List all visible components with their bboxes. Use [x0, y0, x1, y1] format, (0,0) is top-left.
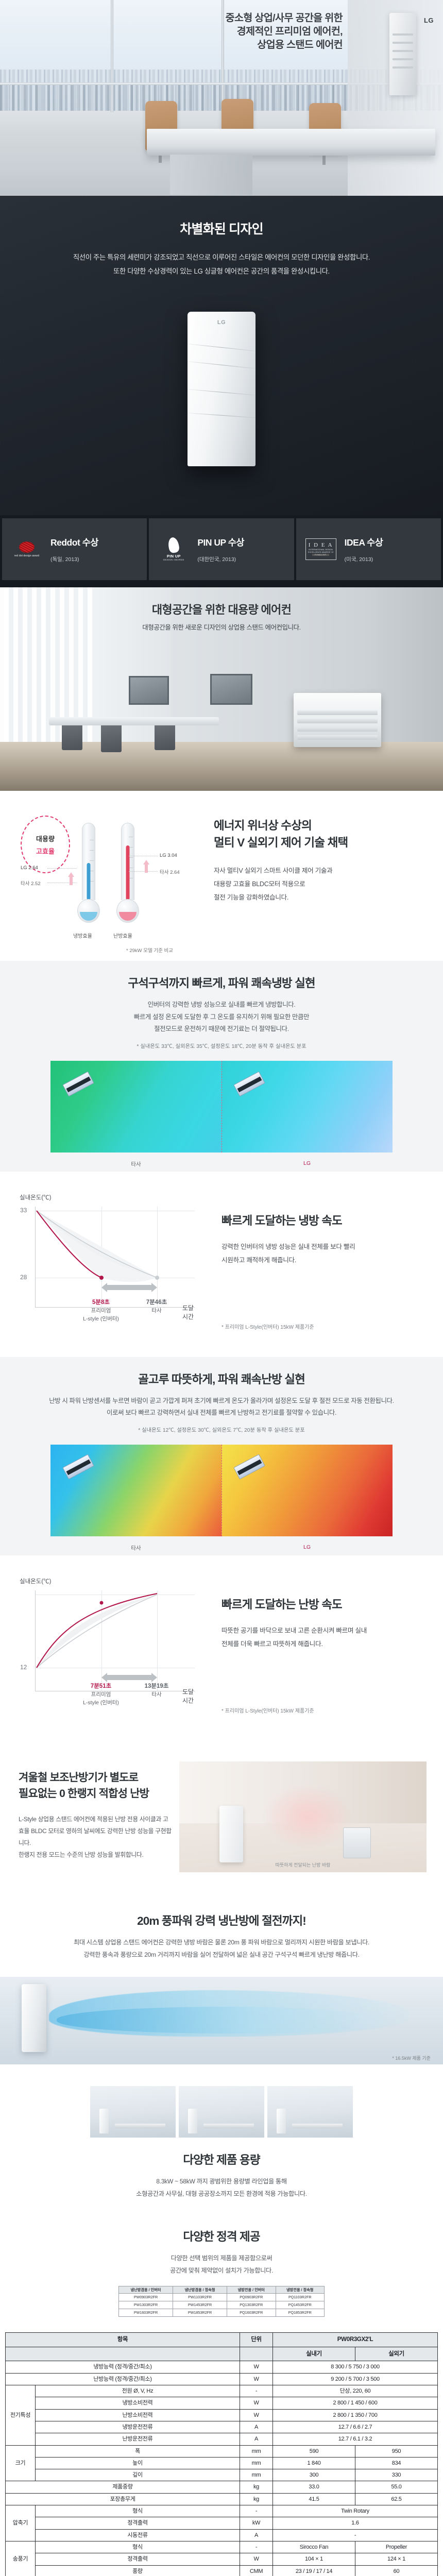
- model-lineup-table: 냉난방겸용 / 인버터냉난방겸용 / 정속형냉방전용 / 인버터냉방전용 / 정…: [118, 2286, 325, 2317]
- lineup-photo: [267, 2086, 353, 2138]
- energy-body-line-2: 대용량 고효율 BLDC모터 적용으로: [214, 878, 430, 891]
- spec-subheader-indoor: 실내기: [273, 2347, 355, 2361]
- heating-speed-chart-section: 실내온도(℃) 12 7분51초 프리미엄 L-style (인버터): [0, 1555, 443, 1741]
- thermal-image-lg: [221, 1445, 393, 1536]
- ac-unit-illustration: [233, 1454, 265, 1479]
- fast-cooling-fine-print: * 실내온도 33℃, 실외온도 35℃, 설정온도 18℃, 20분 동작 후…: [0, 1042, 443, 1049]
- airflow-stream-inner: [57, 2007, 386, 2033]
- heating-chart-ytick-12: 12: [20, 1664, 27, 1671]
- cold-region-title-1: 겨울철 보조난방기가 별도로: [19, 1772, 138, 1784]
- cooling-chart-xlabel: 도달시간: [182, 1303, 195, 1321]
- energy-title-line-2: 멀티 V 실외기 제어 기술 채택: [214, 835, 430, 852]
- lg-logo: LG: [217, 319, 226, 326]
- spec-row-unit: -: [240, 2541, 273, 2553]
- heating-chart-plot: 12: [35, 1590, 195, 1691]
- award-subtitle: (독일, 2013): [50, 555, 98, 563]
- air-conditioner-unit: [389, 13, 416, 95]
- spec-row-unit: kW: [240, 2517, 273, 2529]
- design-desc-line-1: 직선이 주는 특유의 세련미가 강조되었고 직선으로 이루어진 스타일은 에어컨…: [0, 251, 443, 265]
- cooling-lg-value: LG 2.64: [21, 865, 38, 871]
- design-section: 차별화된 디자인 직선이 주는 특유의 세련미가 강조되었고 직선으로 이루어진…: [0, 196, 443, 515]
- capacity-subtitle: 대형공간을 위한 새로운 디자인의 상업용 스탠드 에어컨입니다.: [0, 622, 443, 632]
- spec-row: 냉방능력 (정격/중간/최소)W8 300 / 5 750 / 3 000: [6, 2361, 438, 2373]
- energy-text-block: 에너지 위너상 수상의 멀티 V 실외기 제어 기술 채택 자사 멀티V 실외기…: [214, 818, 430, 905]
- spec-row: 제품중량kg33.055.0: [6, 2481, 438, 2493]
- fast-heating-desc-1: 난방 시 파워 난방센서를 누르면 바람이 곧고 가깝게 퍼져 초기에 빠르게 …: [49, 1397, 394, 1404]
- spec-row-item: 냉방운전전류: [36, 2421, 240, 2433]
- spec-row-item: 시동전류: [36, 2529, 240, 2541]
- thermal-image-other: [50, 1061, 221, 1153]
- spec-row-unit: mm: [240, 2457, 273, 2469]
- spec-row-value: 1.6: [273, 2517, 438, 2529]
- spec-row: 난방능력 (정격/중간/최소)W9 200 / 5 700 / 3 500: [6, 2373, 438, 2385]
- award-subtitle: (대한민국, 2013): [197, 555, 244, 563]
- spec-row-unit: A: [240, 2529, 273, 2541]
- spec-header-model: PW0R3GX2'L: [273, 2332, 438, 2347]
- spec-row-group: 압축기: [6, 2505, 36, 2541]
- spec-row-item: 형식: [36, 2541, 240, 2553]
- model-lineup-cell: PW1453R2FR: [173, 2301, 227, 2309]
- energy-body-line-3: 절전 기능을 강화하였습니다.: [214, 891, 430, 905]
- model-lineup-row: PW0903R2FRPW1103R2FRPQ0903R2FRPQ1103R2FR: [119, 2294, 325, 2301]
- spec-row-value: 12.7 / 6.6 / 2.7: [273, 2421, 438, 2433]
- spec-row-unit: -: [240, 2385, 273, 2397]
- awards-section: red dot design award Reddot 수상 (독일, 2013…: [0, 515, 443, 587]
- pinup-logo-caption: PIN UP: [167, 554, 181, 558]
- conference-table-leg: [170, 155, 252, 195]
- model-lineup-row: PW1303R2FRPW1453R2FRPQ1303R2FRPQ1453R2FR: [119, 2301, 325, 2309]
- design-description: 직선이 주는 특유의 세련미가 강조되었고 직선으로 이루어진 스타일은 에어컨…: [0, 251, 443, 279]
- spec-row-unit: W: [240, 2373, 273, 2385]
- cold-region-photo-caption: 따뜻하게 전달되는 난방 바람: [179, 1861, 427, 1868]
- pinup-logo-icon: PIN UP DESIGN AWARDS: [156, 535, 191, 564]
- spec-row-unit: kg: [240, 2481, 273, 2493]
- spec-row-value-indoor: 33.0: [273, 2481, 355, 2493]
- model-lineup-cell: PW1853R2FR: [173, 2309, 227, 2316]
- product-lineup-section: 다양한 제품 용량 8.3kW ~ 58kW 까지 광범위한 용량별 라인업을 …: [0, 2071, 443, 2214]
- spec-row-group: 송풍기: [6, 2541, 36, 2576]
- badge-line-2: 고효율: [36, 846, 55, 856]
- spec-row: 전기특성전원 Ø, V, Hz-단상, 220, 60: [6, 2385, 438, 2397]
- wall-frame: [129, 676, 169, 705]
- design-desc-line-2: 또한 다양한 수상경력이 있는 LG 싱글형 에어컨은 공간의 품격을 완성시킵…: [0, 265, 443, 279]
- model-lineup-body: PW0903R2FRPW1103R2FRPQ0903R2FRPQ1103R2FR…: [119, 2294, 325, 2316]
- award-title: PIN UP 수상: [197, 536, 244, 549]
- cooling-efficiency-label: 냉방효율: [73, 931, 92, 939]
- spec-row-unit: W: [240, 2397, 273, 2409]
- airflow-note: * 16.5kW 제품 기준: [392, 2055, 431, 2061]
- spec-row-value-outdoor: 62.5: [355, 2493, 438, 2505]
- fast-cooling-desc-2: 빠르게 설정 온도에 도달한 후 그 온도를 유지하기 위해 필요한 만큼만: [134, 1013, 309, 1021]
- spec-row-value-indoor: 300: [273, 2469, 355, 2481]
- model-lineup-col-header: 냉방전용 / 인버터: [227, 2286, 276, 2294]
- heating-speed-body-2: 전체를 더욱 빠르고 따뜻하게 해줍니다.: [221, 1640, 323, 1648]
- thermal-image-other: [50, 1445, 221, 1536]
- cooling-other-value: 타사 2.52: [21, 879, 41, 887]
- cooling-speed-text: 빠르게 도달하는 냉방 속도 강력한 인버터의 냉방 성능은 실내 전체를 보다…: [221, 1212, 428, 1267]
- spec-row-value-indoor: 590: [273, 2445, 355, 2457]
- lineup-title: 다양한 제품 용량: [0, 2151, 443, 2167]
- idea-logo-caption: INTERNATIONAL DESIGN EXCELLENCE AWARDS '…: [306, 549, 336, 554]
- award-card-idea: I D E A INTERNATIONAL DESIGN EXCELLENCE …: [296, 518, 441, 580]
- spec-row-value-outdoor: 55.0: [355, 2481, 438, 2493]
- spec-row-value: 8 300 / 5 750 / 3 000: [273, 2361, 438, 2373]
- heating-speed-chart: 실내온도(℃) 12 7분51초 프리미엄 L-style (인버터): [20, 1577, 195, 1716]
- spec-subheader-blank: [6, 2347, 240, 2361]
- award-subtitle: (미국, 2013): [345, 555, 383, 563]
- spec-row: 송풍기형식-Sirocco FanPropeller: [6, 2541, 438, 2553]
- model-lineup-header-row: 냉난방겸용 / 인버터냉난방겸용 / 정속형냉방전용 / 인버터냉방전용 / 정…: [119, 2286, 325, 2294]
- spec-subheader-outdoor: 실외기: [355, 2347, 438, 2361]
- design-title: 차별화된 디자인: [0, 196, 443, 238]
- spec-row: 깊이mm300330: [6, 2469, 438, 2481]
- spec-row-unit: W: [240, 2409, 273, 2421]
- spec-row: 정격출력kW1.6: [6, 2517, 438, 2529]
- thermal-legend-lg: LG: [221, 1160, 393, 1168]
- heating-chart-lg-label: 7분51초 프리미엄 L-style (인버터): [83, 1682, 119, 1707]
- model-lineup-cell: PW1603R2FR: [119, 2309, 173, 2316]
- cooling-thermal-comparison: 타사 LG: [0, 1061, 443, 1172]
- spec-row-value-outdoor: 60: [355, 2565, 438, 2576]
- heating-chart-ylabel: 실내온도(℃): [20, 1577, 195, 1585]
- model-lineup-row: PW1603R2FRPW1853R2FRPQ1603R2FRPQ1853R2FR: [119, 2309, 325, 2316]
- thermal-divider: [221, 1061, 222, 1153]
- spec-row-value: -: [273, 2529, 438, 2541]
- spec-row: 난방운전전류A12.7 / 6.1 / 3.2: [6, 2433, 438, 2445]
- heating-speed-body-1: 따뜻한 공기를 바닥으로 보내 고른 순환시켜 빠르며 실내: [221, 1627, 367, 1634]
- idea-logo-subcaption: FINALIST: [312, 554, 329, 556]
- cooling-speed-chart-section: 실내온도(℃) 33 28 5분8초: [0, 1172, 443, 1357]
- spec-intro-title: 다양한 정격 제공: [0, 2228, 443, 2244]
- heating-time-gap-arrow: [107, 1675, 152, 1680]
- spec-row-item: 냉방능력 (정격/중간/최소): [6, 2361, 240, 2373]
- spec-row-item: 난방운전전류: [36, 2433, 240, 2445]
- spec-row-value-outdoor: 124 × 1: [355, 2553, 438, 2565]
- spec-row: 크기폭mm590950: [6, 2445, 438, 2457]
- spec-row-item: 형식: [36, 2505, 240, 2517]
- window-mullion-vertical: [111, 0, 113, 112]
- thermal-legend-other: 타사: [50, 1544, 221, 1552]
- spec-row-unit: mm: [240, 2469, 273, 2481]
- heating-efficiency-label: 난방효율: [113, 931, 132, 939]
- spec-header-item: 항목: [6, 2332, 240, 2347]
- spec-row-unit: mm: [240, 2445, 273, 2457]
- air-conditioner-unit: [294, 693, 381, 747]
- spec-row-unit: W: [240, 2553, 273, 2565]
- heating-lg-value: LG 3.04: [160, 853, 177, 858]
- dining-chair: [101, 722, 122, 752]
- long-distance-airflow-section: 20m 풍파워 강력 냉난방에 절전까지! 최대 시스템 상업용 스탠드 에어컨…: [0, 1901, 443, 2071]
- cooling-speed-body-1: 강력한 인버터의 냉방 성능은 실내 전체를 보다 빨리: [221, 1243, 355, 1250]
- spec-row-value: 2 800 / 1 450 / 600: [273, 2397, 438, 2409]
- fast-cooling-title: 구석구석까지 빠르게, 파워 쾌속냉방 실현: [0, 974, 443, 991]
- cooling-time-gap-arrow: [107, 1285, 152, 1290]
- spec-row-value: 단상, 220, 60: [273, 2385, 438, 2397]
- fast-heating-title: 골고루 따뜻하게, 파워 쾌속난방 실현: [0, 1370, 443, 1387]
- conference-table: [147, 129, 435, 156]
- spec-row-unit: A: [240, 2421, 273, 2433]
- spec-row-value-indoor: 23 / 19 / 17 / 14: [273, 2565, 355, 2576]
- heating-chart-xlabel: 도달시간: [182, 1687, 195, 1705]
- spec-row: 난방소비전력W2 800 / 1 350 / 700: [6, 2409, 438, 2421]
- spec-row-item: 난방소비전력: [36, 2409, 240, 2421]
- ac-unit-illustration: [233, 1071, 265, 1096]
- airflow-title: 20m 풍파워 강력 냉난방에 절전까지!: [0, 1912, 443, 1928]
- thermal-legend-other: 타사: [50, 1160, 221, 1168]
- spec-row-value-indoor: 1 840: [273, 2457, 355, 2469]
- product-page: LG 중소형 상업/사무 공간을 위한 경제적인 프리미엄 에어컨, 상업용 스…: [0, 0, 443, 2576]
- lineup-desc-1: 8.3kW ~ 58kW 까지 광범위한 용량별 라인업을 통해: [156, 2178, 287, 2185]
- spec-row-value: 9 200 / 5 700 / 3 500: [273, 2373, 438, 2385]
- spec-row: 냉방운전전류A12.7 / 6.6 / 2.7: [6, 2421, 438, 2433]
- cooling-chart-lg-label: 5분8초 프리미엄 L-style (인버터): [83, 1298, 119, 1324]
- spec-row-item: 높이: [36, 2457, 240, 2469]
- thermal-divider: [221, 1445, 222, 1536]
- ac-unit-illustration: [62, 1454, 94, 1479]
- reddot-logo-caption: red dot design award: [14, 554, 39, 557]
- window-mullion-vertical: [221, 0, 224, 112]
- spec-row-group: 크기: [6, 2445, 36, 2481]
- spec-row: 시동전류A-: [6, 2529, 438, 2541]
- cold-region-body-2: 한랭지 전용 모드는 수준의 난방 성능을 발휘합니다.: [19, 1851, 143, 1858]
- idea-logo-icon: I D E A INTERNATIONAL DESIGN EXCELLENCE …: [303, 535, 338, 564]
- fast-heating-fine-print: * 실내온도 12℃, 설정온도 30℃, 실외온도 7℃, 20분 동작 후 …: [0, 1426, 443, 1433]
- fast-heating-desc-2: 이로써 보다 빠르고 강력하면서 실내 전체를 빠르게 난방하고 전기료를 절약…: [107, 1409, 336, 1416]
- spec-row-value-indoor: 104 × 1: [273, 2553, 355, 2565]
- lineup-photo: [179, 2086, 264, 2138]
- thermal-legend-lg: LG: [221, 1544, 393, 1552]
- heating-other-value: 타사 2.64: [160, 868, 180, 875]
- heating-speed-fine-print: * 프리미엄 L-Style(인버터) 15kW 제품기준: [221, 1706, 314, 1714]
- model-lineup-cell: PQ1103R2FR: [276, 2294, 325, 2301]
- spec-row-unit: kg: [240, 2493, 273, 2505]
- spec-row-item: 난방능력 (정격/중간/최소): [6, 2373, 240, 2385]
- airflow-illustration: * 16.5kW 제품 기준: [0, 1977, 443, 2064]
- cold-region-body-1: L-Style 상업용 스탠드 에어컨에 적용된 난방 전용 사이클과 고효율 …: [19, 1816, 172, 1846]
- large-capacity-section: 대형공간을 위한 대용량 에어컨 대형공간을 위한 새로운 디자인의 상업용 스…: [0, 587, 443, 791]
- specification-table: 항목 단위 PW0R3GX2'L 실내기 실외기 냉방능력 (정격/중간/최소)…: [5, 2332, 438, 2576]
- award-title: Reddot 수상: [50, 536, 98, 549]
- fast-cooling-desc-3: 절전모드로 운전하기 때문에 전기료는 더 절약됩니다.: [154, 1025, 289, 1032]
- spec-row-item: 정격출력: [36, 2517, 240, 2529]
- cooling-chart-other-label: 7분46초 타사: [146, 1298, 167, 1315]
- specification-table-wrap: 항목 단위 PW0R3GX2'L 실내기 실외기 냉방능력 (정격/중간/최소)…: [0, 2326, 443, 2576]
- award-card-pinup: PIN UP DESIGN AWARDS PIN UP 수상 (대한민국, 20…: [149, 518, 294, 580]
- cold-region-title-2: 필요없는 0 한랭지 적합성 난방: [19, 1788, 149, 1800]
- spec-row-value-outdoor: Propeller: [355, 2541, 438, 2553]
- model-lineup-cell: PQ1853R2FR: [276, 2309, 325, 2316]
- heating-thermal-comparison: 타사 LG: [0, 1445, 443, 1555]
- badge-line-1: 대용량: [36, 834, 55, 843]
- cooling-chart-ytick-28: 28: [20, 1274, 27, 1281]
- energy-title-line-1: 에너지 위너상 수상의: [214, 818, 430, 835]
- ac-unit-illustration: [62, 1071, 94, 1096]
- cooling-chart-ytick-33: 33: [20, 1207, 27, 1214]
- spec-row-value-indoor: 41.5: [273, 2493, 355, 2505]
- fast-heating-header: 골고루 따뜻하게, 파워 쾌속난방 실현 난방 시 파워 난방센서를 누르면 바…: [0, 1357, 443, 1445]
- spec-row-value: 2 800 / 1 350 / 700: [273, 2409, 438, 2421]
- spec-row: 정격출력W104 × 1124 × 1: [6, 2553, 438, 2565]
- spec-row-item: 풍량: [36, 2565, 240, 2576]
- capacity-title: 대형공간을 위한 대용량 에어컨: [0, 601, 443, 617]
- warm-air-glow: [262, 1783, 354, 1850]
- spec-row-group: 전기특성: [6, 2385, 36, 2445]
- cooling-speed-body-2: 시원하고 쾌적하게 해줍니다.: [221, 1257, 296, 1264]
- wall-frame: [210, 674, 252, 705]
- spec-row-unit: A: [240, 2433, 273, 2445]
- model-lineup-cell: PW1103R2FR: [173, 2294, 227, 2301]
- spec-row-unit: CMM: [240, 2565, 273, 2576]
- lineup-photo: [90, 2086, 176, 2138]
- energy-body-line-1: 자사 멀티V 실외기 스마트 사이클 제어 기술과: [214, 865, 430, 878]
- spec-row-item: 정격출력: [36, 2553, 240, 2565]
- model-lineup-cell: PQ0903R2FR: [227, 2294, 276, 2301]
- model-lineup-col-header: 냉방전용 / 정속형: [276, 2286, 325, 2294]
- auxiliary-heater: [343, 1827, 371, 1858]
- spec-row: 높이mm1 840834: [6, 2457, 438, 2469]
- thermometer-cooling: [77, 823, 100, 923]
- lineup-photo-row: [0, 2086, 443, 2138]
- model-lineup-cell: PQ1603R2FR: [227, 2309, 276, 2316]
- model-lineup-cell: PW0903R2FR: [119, 2294, 173, 2301]
- spec-header-row: 항목 단위 PW0R3GX2'L: [6, 2332, 438, 2347]
- heating-speed-text: 빠르게 도달하는 난방 속도 따뜻한 공기를 바닥으로 보내 고른 순환시켜 빠…: [221, 1596, 428, 1651]
- spec-row-value: 12.7 / 6.1 / 3.2: [273, 2433, 438, 2445]
- model-lineup-cell: PQ1453R2FR: [276, 2301, 325, 2309]
- spec-subheader-row: 실내기 실외기: [6, 2347, 438, 2361]
- model-lineup-cell: PQ1303R2FR: [227, 2301, 276, 2309]
- spec-intro-desc-1: 다양한 선택 범위의 제품을 제공함으로써: [171, 2255, 272, 2262]
- award-card-reddot: red dot design award Reddot 수상 (독일, 2013…: [2, 518, 147, 580]
- cooling-chart-curves: [36, 1207, 195, 1308]
- cooling-speed-fine-print: * 프리미엄 L-Style(인버터) 15kW 제품기준: [221, 1323, 314, 1330]
- model-lineup-col-header: 냉난방겸용 / 인버터: [119, 2286, 173, 2294]
- hero-headline-line-1: 중소형 상업/사무 공간을 위한: [226, 11, 343, 25]
- spec-row-value-outdoor: 330: [355, 2469, 438, 2481]
- spec-row-item: 냉방소비전력: [36, 2397, 240, 2409]
- model-lineup-cell: PW1303R2FR: [119, 2301, 173, 2309]
- heating-chart-other-label: 13분19초 타사: [145, 1682, 169, 1699]
- product-hero-image: LG: [188, 312, 255, 466]
- spec-subheader-blank-unit: [240, 2347, 273, 2361]
- spec-row: 풍량CMM23 / 19 / 17 / 1460: [6, 2565, 438, 2576]
- spec-intro-section: 다양한 정격 제공 다양한 선택 범위의 제품을 제공함으로써 공간에 맞춰 제…: [0, 2213, 443, 2326]
- spec-row-item: 제품중량: [6, 2481, 240, 2493]
- spec-row-value: Twin Rotary: [273, 2505, 438, 2517]
- spec-header-unit: 단위: [240, 2332, 273, 2347]
- spec-row-value-outdoor: 834: [355, 2457, 438, 2469]
- spec-row: 포장총무게kg41.562.5: [6, 2493, 438, 2505]
- cooling-speed-chart: 실내온도(℃) 33 28 5분8초: [20, 1193, 195, 1332]
- lineup-desc-2: 소형공간과 사무실, 대형 공공장소까지 모든 환경에 적용 가능합니다.: [136, 2190, 306, 2197]
- airflow-header: 20m 풍파워 강력 냉난방에 절전까지! 최대 시스템 상업용 스탠드 에어컨…: [0, 1912, 443, 1961]
- thermometer-comparison-graphic: 대용량 고효율: [15, 810, 201, 944]
- cold-region-photo: 따뜻하게 전달되는 난방 바람: [179, 1761, 427, 1872]
- cooling-chart-plot: 33 28: [35, 1207, 195, 1308]
- spec-row: 압축기형식-Twin Rotary: [6, 2505, 438, 2517]
- lg-logo: LG: [424, 16, 434, 24]
- cooling-chart-ylabel: 실내온도(℃): [20, 1193, 195, 1201]
- hero-section: LG 중소형 상업/사무 공간을 위한 경제적인 프리미엄 에어컨, 상업용 스…: [0, 0, 443, 196]
- hero-headline-line-3: 상업용 스탠드 에어컨: [226, 38, 343, 52]
- spec-row-unit: -: [240, 2505, 273, 2517]
- cold-region-text: 겨울철 보조난방기가 별도로 필요없는 0 한랭지 적합성 난방 L-Style…: [19, 1770, 173, 1861]
- spec-row-unit: W: [240, 2361, 273, 2373]
- fast-cooling-header: 구석구석까지 빠르게, 파워 쾌속냉방 실현 인버터의 강력한 냉방 성능으로 …: [0, 961, 443, 1061]
- air-conditioner-unit: [219, 1806, 243, 1862]
- spec-row-item: 포장총무게: [6, 2493, 240, 2505]
- spec-row-item: 전원 Ø, V, Hz: [36, 2385, 240, 2397]
- spec-intro-desc-2: 공간에 맞춰 제약없이 설치가 가능합니다.: [170, 2267, 273, 2274]
- dining-table: [49, 717, 219, 725]
- spec-row-value-outdoor: 950: [355, 2445, 438, 2457]
- thermometer-heating: [116, 823, 139, 923]
- energy-winner-section: 대용량 고효율: [0, 791, 443, 961]
- reddot-logo-icon: red dot design award: [9, 535, 44, 564]
- airflow-body-2: 강력한 풍속과 풍량으로 20m 거리까지 바람을 실어 전달하여 넓은 실내 …: [83, 1951, 359, 1958]
- model-lineup-col-header: 냉난방겸용 / 정속형: [173, 2286, 227, 2294]
- spec-row-item: 깊이: [36, 2469, 240, 2481]
- spec-row: 냉방소비전력W2 800 / 1 450 / 600: [6, 2397, 438, 2409]
- heating-speed-title: 빠르게 도달하는 난방 속도: [221, 1596, 428, 1612]
- fast-cooling-desc-1: 인버터의 강력한 냉방 성능으로 실내를 빠르게 냉방합니다.: [148, 1001, 296, 1008]
- air-conditioner-unit: [22, 1984, 46, 2052]
- energy-note: * 29kW 모델 기준 비교: [126, 946, 173, 954]
- pinup-logo-subcaption: DESIGN AWARDS: [163, 558, 184, 561]
- airflow-body-1: 최대 시스템 상업용 스탠드 에어컨은 강력한 냉방 바람은 물론 20m 풍 …: [74, 1939, 369, 1946]
- award-title: IDEA 수상: [345, 536, 383, 549]
- cooling-speed-title: 빠르게 도달하는 냉방 속도: [221, 1212, 428, 1228]
- thermal-image-lg: [221, 1061, 393, 1153]
- spec-table-body: 냉방능력 (정격/중간/최소)W8 300 / 5 750 / 3 000난방능…: [6, 2361, 438, 2576]
- hero-headline: 중소형 상업/사무 공간을 위한 경제적인 프리미엄 에어컨, 상업용 스탠드 …: [226, 11, 343, 52]
- spec-row-value-indoor: Sirocco Fan: [273, 2541, 355, 2553]
- cold-region-heating-section: 겨울철 보조난방기가 별도로 필요없는 0 한랭지 적합성 난방 L-Style…: [0, 1741, 443, 1901]
- spec-row-item: 폭: [36, 2445, 240, 2457]
- hero-headline-line-2: 경제적인 프리미엄 에어컨,: [226, 25, 343, 38]
